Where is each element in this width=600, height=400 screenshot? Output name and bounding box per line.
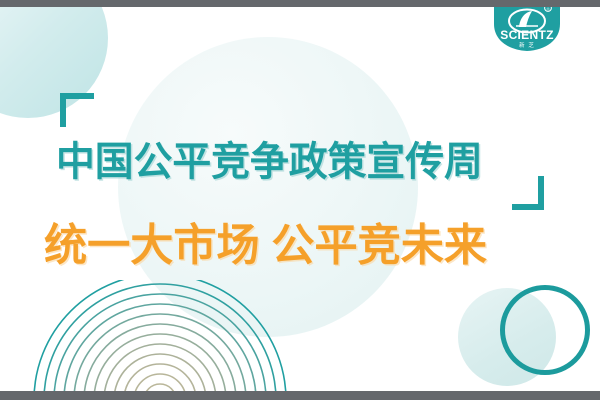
logo-subtext: 新 芝 <box>519 41 535 49</box>
corner-bracket-bottom-right-icon <box>512 176 544 210</box>
bottom-chrome-bar <box>0 391 600 400</box>
headline-secondary: 统一大市场公平竞未来 <box>44 224 487 268</box>
corner-bracket-top-left-icon <box>60 93 94 127</box>
logo-wordmark: SCIENTZ <box>500 28 553 42</box>
headline-secondary-left: 统一大市场 <box>44 220 260 271</box>
scientz-logo[interactable]: ® SCIENTZ 新 芝 <box>492 0 562 52</box>
headline-secondary-right: 公平竞未来 <box>271 220 487 271</box>
top-chrome-bar <box>0 0 600 7</box>
headline-primary: 中国公平竞争政策宣传周 <box>56 142 483 182</box>
teal-outline-circle-bottom-right <box>500 285 590 375</box>
concentric-arc-lines <box>0 280 340 400</box>
promo-banner: ® SCIENTZ 新 芝 中国公平竞争政策宣传周 统一大市场公平竞未来 <box>0 0 600 400</box>
background-decoration-layer <box>0 0 600 400</box>
